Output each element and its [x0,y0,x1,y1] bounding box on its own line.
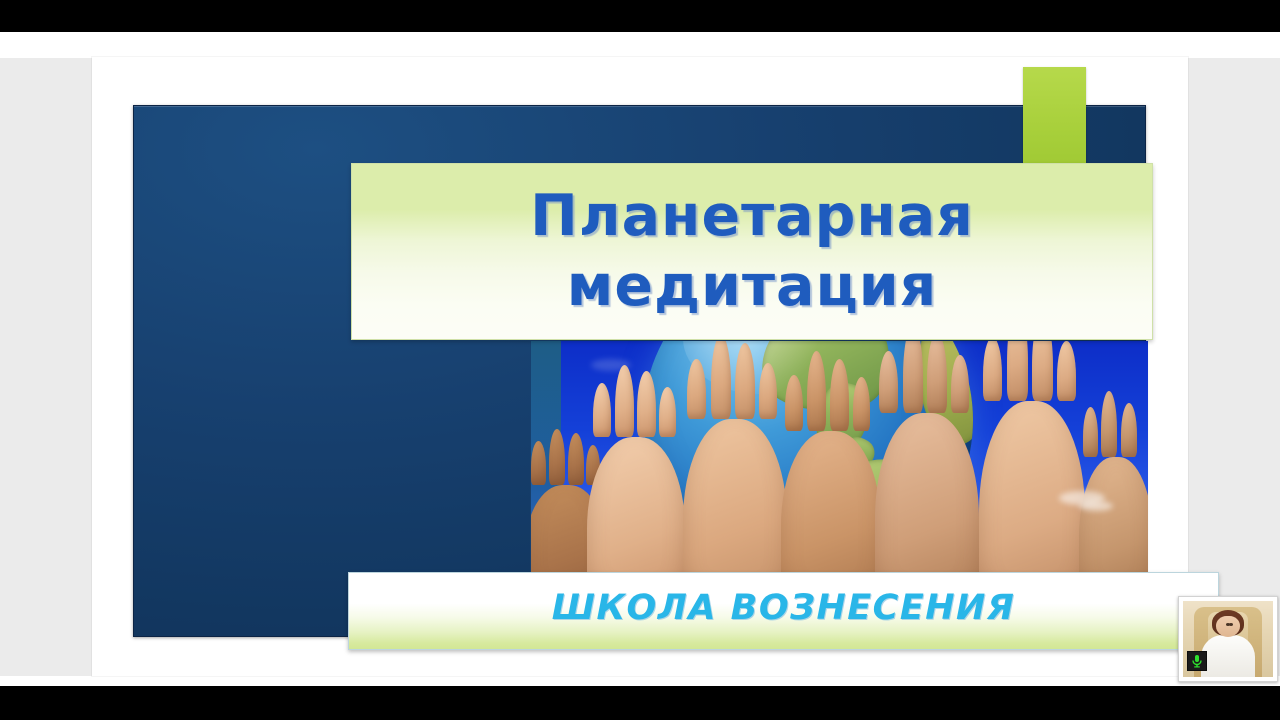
presenter-body [1201,635,1255,677]
microphone-icon[interactable] [1187,651,1207,671]
letterbox-bottom [0,686,1280,720]
slide-subtitle-banner: ШКОЛА ВОЗНЕСЕНИЯ [348,572,1219,650]
webcam-video [1183,601,1273,677]
letterbox-top [0,0,1280,32]
video-stage: Планетарная медитация ШКОЛА ВОЗНЕСЕНИЯ [0,0,1280,720]
slide-page: Планетарная медитация ШКОЛА ВОЗНЕСЕНИЯ [92,57,1188,676]
slide-title-line-2: медитация [567,256,938,318]
hands-globe-photo [530,341,1148,573]
cloud-icon [1079,501,1113,511]
eye [1229,623,1233,626]
slide-subtitle-text: ШКОЛА ВОЗНЕСЕНИЯ [552,588,1016,628]
slide-title-line-1: Планетарная [530,186,974,248]
slide-title-plate: Планетарная медитация [351,163,1153,340]
webcam-self-view[interactable] [1178,596,1278,682]
presentation-slide: Планетарная медитация ШКОЛА ВОЗНЕСЕНИЯ [133,105,1146,637]
hand [979,401,1085,573]
hand [1079,457,1148,573]
